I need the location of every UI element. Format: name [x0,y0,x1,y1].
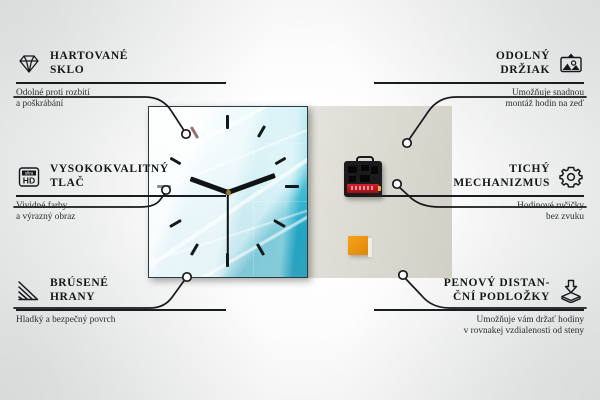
feature-description: Umožňuje snadnou montáž hodin na zeď [374,88,584,111]
feature-title: PENOVÝ DISTAN- ČNÍ PODLOŽKY [444,277,550,304]
feature-description: Hodinové ručičky bez zvuku [374,201,584,224]
clock-hub [226,190,231,195]
brushed-edges-icon [16,279,42,303]
feature-durable-hanger: ODOLNÝ DRŽIAK Umožňuje snadnou montáž ho… [374,50,584,110]
feature-description: Hladký a bezpečný povrch [16,315,226,326]
divider [374,82,584,84]
infographic-canvas: HARTOVANÉ SKLO Odolné proti rozbití a po… [0,0,600,400]
clock-tick [226,253,229,267]
second-hand [227,192,229,254]
feature-title: TICHÝ MECHANIZMUS [453,163,550,190]
feature-high-quality-print: ultra HD VYSOKOKVALITNÝ TLAČ Vividné far… [16,163,226,223]
ultra-hd-badge-icon: ultra HD [16,165,42,189]
gear-icon [558,165,584,189]
foam-pad-arrow-icon [558,279,584,303]
divider [16,82,226,84]
feature-description: Odolné proti rozbití a poškrábání [16,88,226,111]
feature-description: Umožňuje vám držať hodiny v rovnakej vzd… [374,315,584,338]
clock-tick [285,185,299,188]
feature-title: VYSOKOKVALITNÝ TLAČ [50,163,169,190]
feature-title: ODOLNÝ DRŽIAK [496,50,550,77]
feature-polished-edges: BRÚSENÉ HRANY Hladký a bezpečný povrch [16,277,226,326]
divider [16,195,226,197]
divider [374,195,584,197]
feature-title: BRÚSENÉ HRANY [50,277,109,304]
foam-spacer-pad [348,236,368,255]
feature-hardened-glass: HARTOVANÉ SKLO Odolné proti rozbití a po… [16,50,226,110]
feature-silent-mechanism: TICHÝ MECHANIZMUS Hodinové ručičky bez z… [374,163,584,223]
divider [16,309,226,311]
feature-description: Vividné farby a výrazný obraz [16,201,226,224]
divider [374,309,584,311]
svg-text:HD: HD [23,175,35,185]
clock-tick [226,115,229,129]
picture-hanger-icon [558,52,584,76]
feature-foam-spacers: PENOVÝ DISTAN- ČNÍ PODLOŽKY Umožňuje vám… [374,277,584,337]
diamond-icon [16,52,42,76]
feature-title: HARTOVANÉ SKLO [50,50,128,77]
